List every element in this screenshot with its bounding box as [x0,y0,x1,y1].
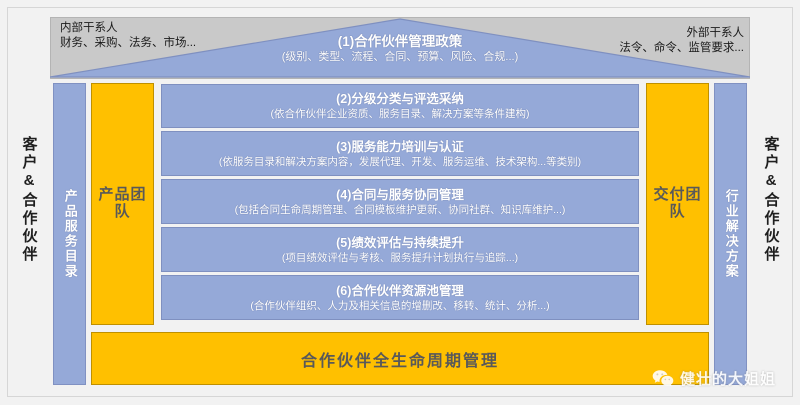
wechat-icon [652,369,674,388]
internal-stakeholders-items: 财务、采购、法务、市场... [60,36,310,51]
foundation-bar[interactable]: 合作伙伴全生命周期管理 [91,332,709,385]
layer-row-3-title: (3)服务能力培训与认证 [336,139,464,155]
wechat-watermark-text: 健壮的大姐姐 [680,368,776,389]
external-stakeholders: 外部干系人 法令、命令、监管要求... [464,26,744,56]
outside-label-left: 客户&合作伙伴 [14,100,44,300]
layer-row-6-subtitle: (合作伙伴组织、人力及相关信息的增删改、移转、统计、分析...) [250,299,549,313]
internal-stakeholders: 内部干系人 财务、采购、法务、市场... [60,21,310,51]
layer-row-2-title: (2)分级分类与评选采纳 [336,91,464,107]
external-stakeholders-title: 外部干系人 [464,26,744,41]
wechat-watermark: 健壮的大姐姐 [652,368,776,389]
pillar-delivery-team[interactable]: 交付团队 [646,83,709,325]
layer-row-5-subtitle: (项目绩效评估与考核、服务提升计划执行与追踪...) [282,251,518,265]
internal-stakeholders-title: 内部干系人 [60,21,310,36]
outside-label-right: 客户&合作伙伴 [756,100,786,300]
layer-row-6-title: (6)合作伙伴资源池管理 [336,283,464,299]
layer-row-4-title: (4)合同与服务协同管理 [336,187,464,203]
layer-row-4-subtitle: (包括合同生命周期管理、合同模板维护更新、协同社群、知识库维护...) [235,203,566,217]
external-stakeholders-items: 法令、命令、监管要求... [464,41,744,56]
layer-row-3-subtitle: (依服务目录和解决方案内容，发展代理、开发、服务运维、技术架构...等类别) [219,155,581,169]
layer-row-4[interactable]: (4)合同与服务协同管理 (包括合同生命周期管理、合同模板维护更新、协同社群、知… [161,179,639,224]
pillar-product-service-catalog[interactable]: 产品服务目录 [53,83,86,385]
layer-row-6[interactable]: (6)合作伙伴资源池管理 (合作伙伴组织、人力及相关信息的增删改、移转、统计、分… [161,275,639,320]
pillar-industry-solution[interactable]: 行业解决方案 [714,83,747,385]
layer-row-5-title: (5)绩效评估与持续提升 [336,235,464,251]
layer-row-2-subtitle: (依合作伙伴企业资质、服务目录、解决方案等条件建构) [271,107,530,121]
layer-row-2[interactable]: (2)分级分类与评选采纳 (依合作伙伴企业资质、服务目录、解决方案等条件建构) [161,84,639,128]
diagram-canvas: 内部干系人 财务、采购、法务、市场... 外部干系人 法令、命令、监管要求...… [0,0,800,405]
layer-row-3[interactable]: (3)服务能力培训与认证 (依服务目录和解决方案内容，发展代理、开发、服务运维、… [161,131,639,176]
pillar-product-team[interactable]: 产品团队 [91,83,154,325]
wechat-icon-glyph [652,369,674,388]
layer-row-5[interactable]: (5)绩效评估与持续提升 (项目绩效评估与考核、服务提升计划执行与追踪...) [161,227,639,272]
